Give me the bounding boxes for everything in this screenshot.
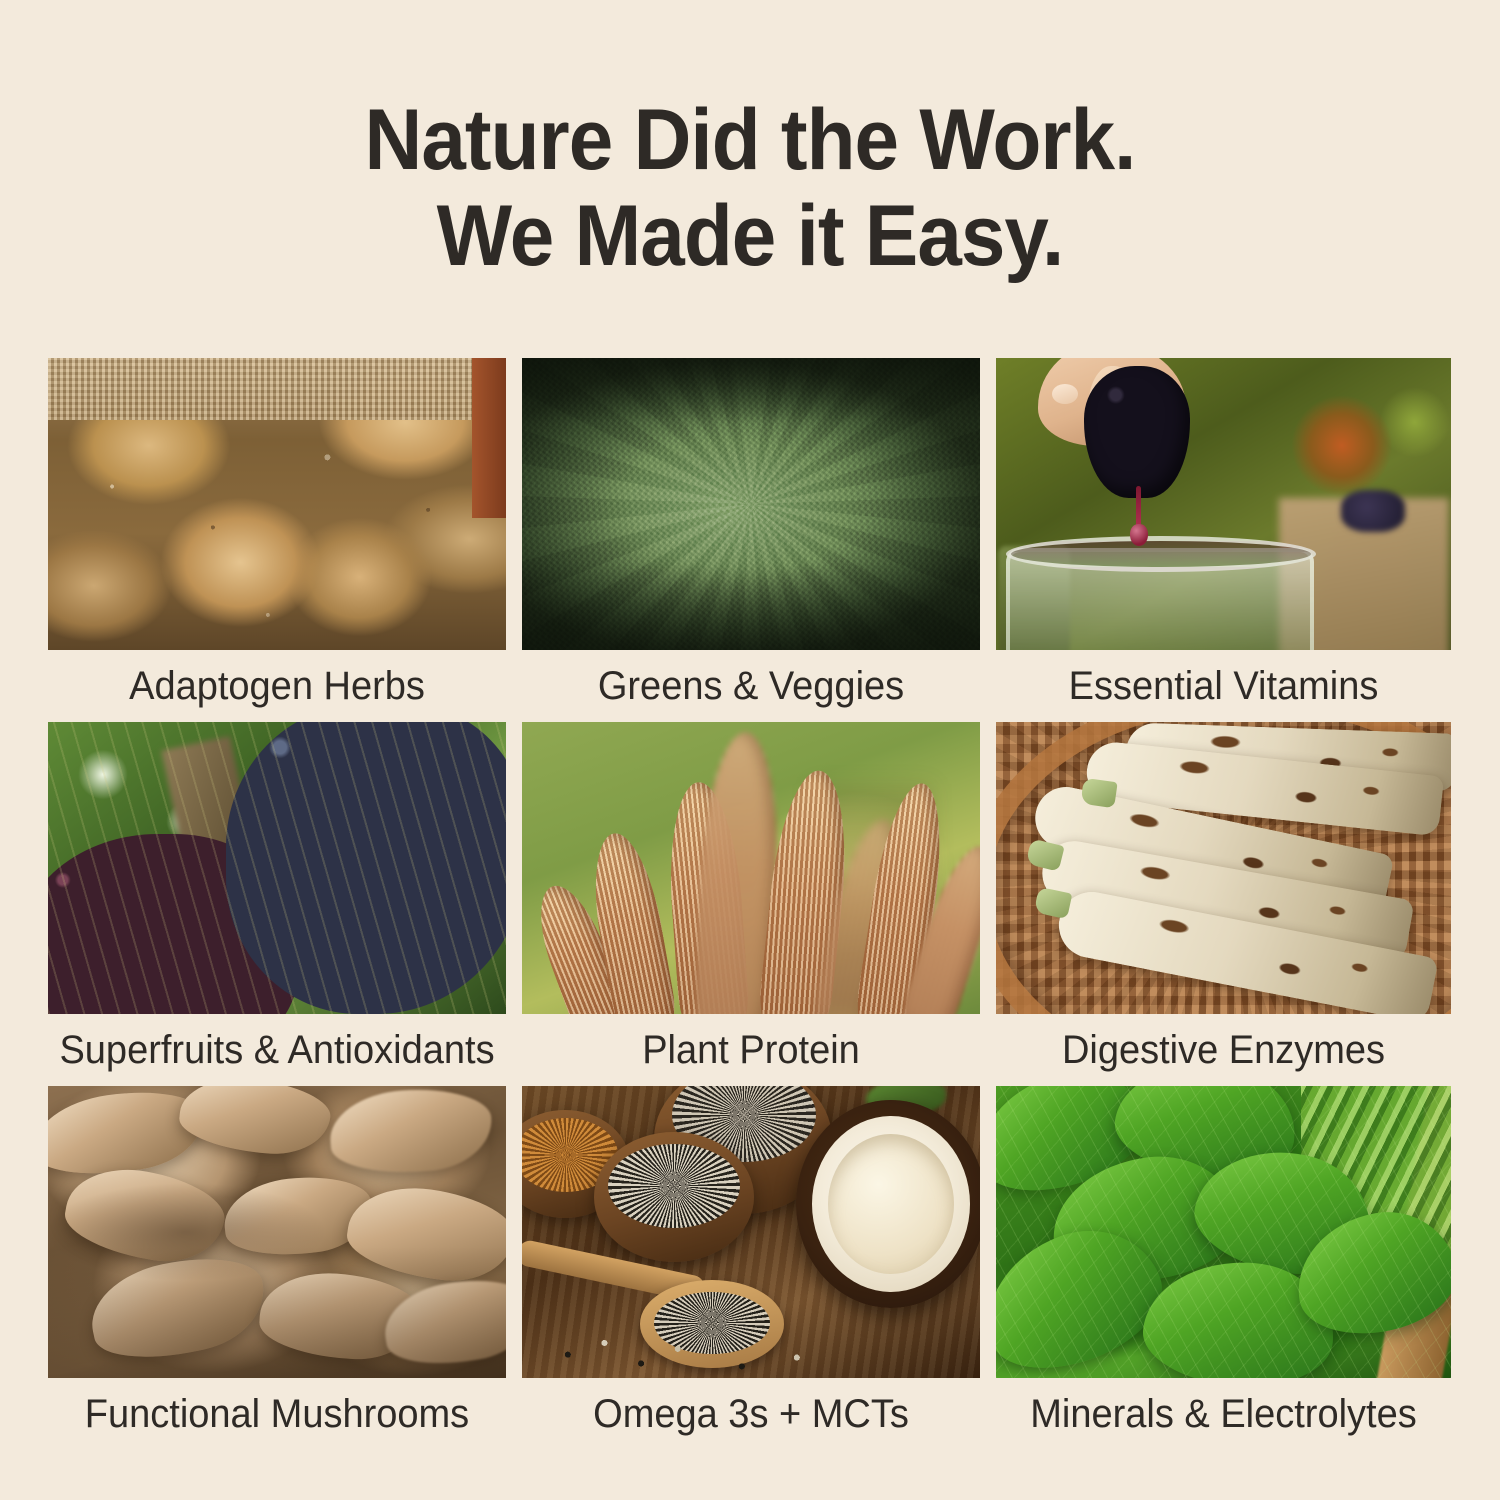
superfruits-antioxidants-photo <box>48 722 506 1014</box>
grid-item-caption: Adaptogen Herbs <box>59 650 494 722</box>
grid-item[interactable]: Minerals & Electrolytes <box>996 1086 1451 1450</box>
grid-item-caption: Plant Protein <box>533 1014 968 1086</box>
grid-item-caption: Minerals & Electrolytes <box>1007 1378 1439 1450</box>
grid-item[interactable]: Functional Mushrooms <box>48 1086 506 1450</box>
headline-line-1: Nature Did the Work. <box>53 92 1448 188</box>
grid-item-caption: Omega 3s + MCTs <box>533 1378 968 1450</box>
functional-mushrooms-photo <box>48 1086 506 1378</box>
headline-line-2: We Made it Easy. <box>53 188 1448 284</box>
essential-vitamins-photo <box>996 358 1451 650</box>
minerals-electrolytes-photo <box>996 1086 1451 1378</box>
grid-item-caption: Greens & Veggies <box>533 650 968 722</box>
plant-protein-photo <box>522 722 980 1014</box>
page-title: Nature Did the Work. We Made it Easy. <box>53 92 1448 285</box>
promo-banner: Nature Did the Work. We Made it Easy. Ad… <box>0 0 1500 1500</box>
grid-item[interactable]: Omega 3s + MCTs <box>522 1086 980 1450</box>
greens-veggies-photo <box>522 358 980 650</box>
omega-mct-photo <box>522 1086 980 1378</box>
digestive-enzymes-photo <box>996 722 1451 1014</box>
grid-item[interactable]: Essential Vitamins <box>996 358 1451 722</box>
adaptogen-herbs-photo <box>48 358 506 650</box>
grid-item-caption: Digestive Enzymes <box>1007 1014 1439 1086</box>
grid-item[interactable]: Greens & Veggies <box>522 358 980 722</box>
grid-item[interactable]: Digestive Enzymes <box>996 722 1451 1086</box>
ingredient-grid: Adaptogen Herbs Greens & Veggies <box>48 358 1448 1450</box>
grid-item[interactable]: Superfruits & Antioxidants <box>48 722 506 1086</box>
grid-item-caption: Functional Mushrooms <box>59 1378 494 1450</box>
grid-item[interactable]: Adaptogen Herbs <box>48 358 506 722</box>
grid-item[interactable]: Plant Protein <box>522 722 980 1086</box>
grid-item-caption: Superfruits & Antioxidants <box>59 1014 494 1086</box>
grid-item-caption: Essential Vitamins <box>1007 650 1439 722</box>
